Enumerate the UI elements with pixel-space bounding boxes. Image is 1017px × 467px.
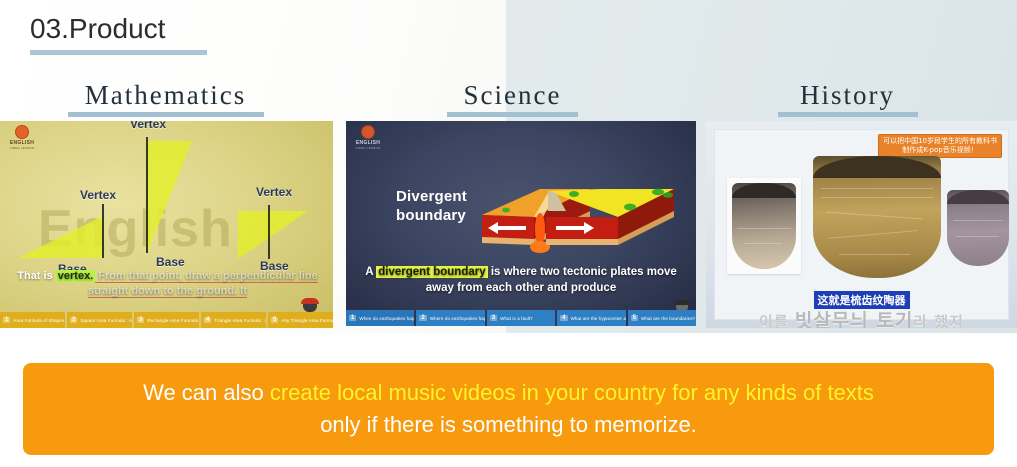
pottery-left <box>727 178 801 274</box>
science-slide-canvas: ENGLISH VIDEO LESSON Divergent boundary <box>346 121 696 326</box>
pottery-middle-pattern-2 <box>821 197 934 198</box>
tectonic-plate-diagram <box>478 177 678 257</box>
footer-line-1-plain: We can also <box>143 380 270 405</box>
pottery-middle-pattern-5 <box>839 254 911 255</box>
section-heading-history-underline <box>778 112 918 117</box>
section-heading-mathematics: Mathematics <box>58 80 273 117</box>
label-vertex-left: Vertex <box>80 188 116 202</box>
history-subtitle-korean-pre: 이를 <box>759 313 795 328</box>
science-title-line1: Divergent <box>396 187 467 206</box>
section-heading-history-label: History <box>770 80 925 110</box>
vertical-height-line-right <box>268 205 270 259</box>
history-subtitle-korean-post: 라 했지 <box>913 313 964 328</box>
science-nav-item-5[interactable]: 5 What are the boundaries? <box>628 310 696 326</box>
page-title: 03.Product <box>30 12 207 46</box>
science-nav-item-1[interactable]: 1 When do earthquakes happen? <box>346 310 414 326</box>
pottery-middle-pattern-1 <box>821 188 934 189</box>
science-nav-label-3: What is a fault? <box>500 316 533 321</box>
science-slide-title: Divergent boundary <box>396 187 467 225</box>
presenter-avatar-icon <box>301 298 319 312</box>
label-vertex-middle: Vertex <box>130 121 166 131</box>
science-nav-number-3: 3 <box>490 315 497 321</box>
math-nav-item-1[interactable]: 1 Area Formula of Shapes <box>0 312 65 328</box>
label-vertex-right: Vertex <box>256 185 292 199</box>
math-nav-item-2[interactable]: 2 Square Area Formula : A = L x W <box>67 312 132 328</box>
page-title-underline <box>30 50 207 55</box>
math-nav-item-3[interactable]: 3 Rectangle Area Formula : A = L x W <box>134 312 199 328</box>
history-subtitle-korean-main: 빗살무늬 토기 <box>795 310 914 328</box>
math-nav-label-3: Rectangle Area Formula : A = L x W <box>147 318 199 323</box>
tectonic-plate-svg <box>478 177 678 257</box>
pottery-middle-body <box>813 156 941 278</box>
pottery-right-rim <box>947 190 1009 204</box>
science-nav-number-4: 4 <box>560 315 567 321</box>
science-caption: A divergent boundary is where two tecton… <box>360 264 682 296</box>
math-nav-number-2: 2 <box>70 317 77 323</box>
science-nav-number-5: 5 <box>631 315 638 321</box>
history-slide-inner: 可以把中国10岁段学生的所有教科书 制作成K-pop音乐视频！ <box>714 129 1009 320</box>
science-nav-label-4: What are the hypocenter and epicenter? <box>571 316 626 321</box>
vertical-height-line-middle <box>146 137 148 253</box>
section-heading-history: History <box>770 80 925 117</box>
logo-circle-icon-science <box>361 125 375 139</box>
pottery-left-body <box>732 183 796 269</box>
footer-line-1-accent: create local music videos in your countr… <box>270 380 874 405</box>
math-nav-label-4: Triangle Area Formula : A = 1/2 (B x H) <box>214 318 266 323</box>
math-nav-item-5[interactable]: 5 Any Triangle Area Formula is the same <box>268 312 333 328</box>
history-chinese-banner: 可以把中国10岁段学生的所有教科书 制作成K-pop音乐视频！ <box>878 134 1002 158</box>
pottery-right-pattern-1 <box>953 220 1003 221</box>
math-slide-canvas: ENGLISH VIDEO LESSON English Vertex Base… <box>0 121 333 328</box>
pottery-left-rim <box>732 183 796 198</box>
thumbnail-science[interactable]: ENGLISH VIDEO LESSON Divergent boundary <box>346 121 696 326</box>
science-nav-label-5: What are the boundaries? <box>641 316 695 321</box>
section-heading-science-label: Science <box>435 80 590 110</box>
pottery-left-crack-2 <box>744 243 782 244</box>
pottery-right-body <box>947 190 1009 266</box>
history-banner-line2: 制作成K-pop音乐视频！ <box>883 146 997 155</box>
science-nav-item-2[interactable]: 2 Where do earthquakes happen? <box>416 310 484 326</box>
section-heading-science-underline <box>447 112 578 117</box>
math-nav-label-1: Area Formula of Shapes <box>13 318 64 323</box>
section-heading-mathematics-label: Mathematics <box>58 80 273 110</box>
triangle-shape-right <box>238 211 308 259</box>
math-nav-number-4: 4 <box>204 317 211 323</box>
thumbnail-mathematics[interactable]: ENGLISH VIDEO LESSON English Vertex Base… <box>0 121 333 328</box>
science-nav-item-3[interactable]: 3 What is a fault? <box>487 310 555 326</box>
math-chapter-navbar[interactable]: 1 Area Formula of Shapes 2 Square Area F… <box>0 312 333 328</box>
science-caption-part1: A <box>365 266 376 278</box>
science-title-line2: boundary <box>396 206 467 225</box>
science-nav-label-2: Where do earthquakes happen? <box>430 316 485 321</box>
section-heading-mathematics-underline <box>68 112 264 117</box>
triangle-shape-left <box>18 216 103 258</box>
science-nav-item-4[interactable]: 4 What are the hypocenter and epicenter? <box>557 310 625 326</box>
math-nav-label-2: Square Area Formula : A = L x W <box>80 318 132 323</box>
pottery-middle <box>813 156 941 278</box>
pottery-middle-rim <box>813 156 941 178</box>
history-subtitle-korean: 이를 빗살무늬 토기라 했지 <box>715 306 1008 328</box>
history-banner-line1: 可以把中国10岁段学生的所有教科书 <box>883 137 997 146</box>
pottery-photo-group <box>715 156 1008 286</box>
page-title-block: 03.Product <box>30 12 207 55</box>
science-nav-number-1: 1 <box>349 315 356 321</box>
math-caption-part1: That is <box>17 270 56 282</box>
math-caption: That is vertex. From that point, draw a … <box>12 269 323 299</box>
pottery-middle-pattern-3 <box>826 211 923 219</box>
math-caption-highlight: vertex. <box>56 270 95 282</box>
history-slide-canvas: 可以把中国10岁段学生的所有教科书 制作成K-pop音乐视频！ <box>706 121 1017 328</box>
triangle-shape-middle <box>148 141 192 251</box>
science-nav-number-2: 2 <box>419 315 426 321</box>
vertical-height-line-left <box>102 204 104 258</box>
english-logo-icon-science: ENGLISH VIDEO LESSON <box>351 125 385 150</box>
math-nav-item-4[interactable]: 4 Triangle Area Formula : A = 1/2 (B x H… <box>201 312 266 328</box>
avatar-face-icon <box>303 304 317 312</box>
pottery-right <box>947 190 1009 266</box>
thumbnail-history[interactable]: 可以把中国10岁段学生的所有教科书 制作成K-pop音乐视频！ <box>706 121 1017 328</box>
math-nav-number-1: 1 <box>3 317 10 323</box>
section-heading-science: Science <box>435 80 590 117</box>
logo-text-secondary-science: VIDEO LESSON <box>351 146 385 150</box>
label-base-middle: Base <box>156 255 185 269</box>
footer-callout-banner: We can also create local music videos in… <box>23 363 994 455</box>
math-nav-number-3: 3 <box>137 317 144 323</box>
pottery-left-card <box>727 178 801 274</box>
english-logo-icon: ENGLISH VIDEO LESSON <box>5 125 39 150</box>
math-nav-number-5: 5 <box>271 317 278 323</box>
pottery-right-pattern-2 <box>956 236 999 237</box>
logo-text-secondary: VIDEO LESSON <box>5 146 39 150</box>
pottery-left-crack <box>737 228 791 229</box>
footer-line-2: only if there is something to memorize. <box>320 409 697 441</box>
pottery-middle-pattern-4 <box>828 230 917 239</box>
science-chapter-navbar[interactable]: 1 When do earthquakes happen? 2 Where do… <box>346 310 696 326</box>
math-caption-part2: From that point, draw a perpendicular li… <box>88 270 318 298</box>
science-nav-label-1: When do earthquakes happen? <box>359 316 414 321</box>
math-nav-label-5: Any Triangle Area Formula is the same <box>281 318 333 323</box>
science-caption-highlight: divergent boundary <box>376 266 487 278</box>
logo-circle-icon <box>15 125 29 139</box>
footer-line-1: We can also create local music videos in… <box>143 377 874 409</box>
